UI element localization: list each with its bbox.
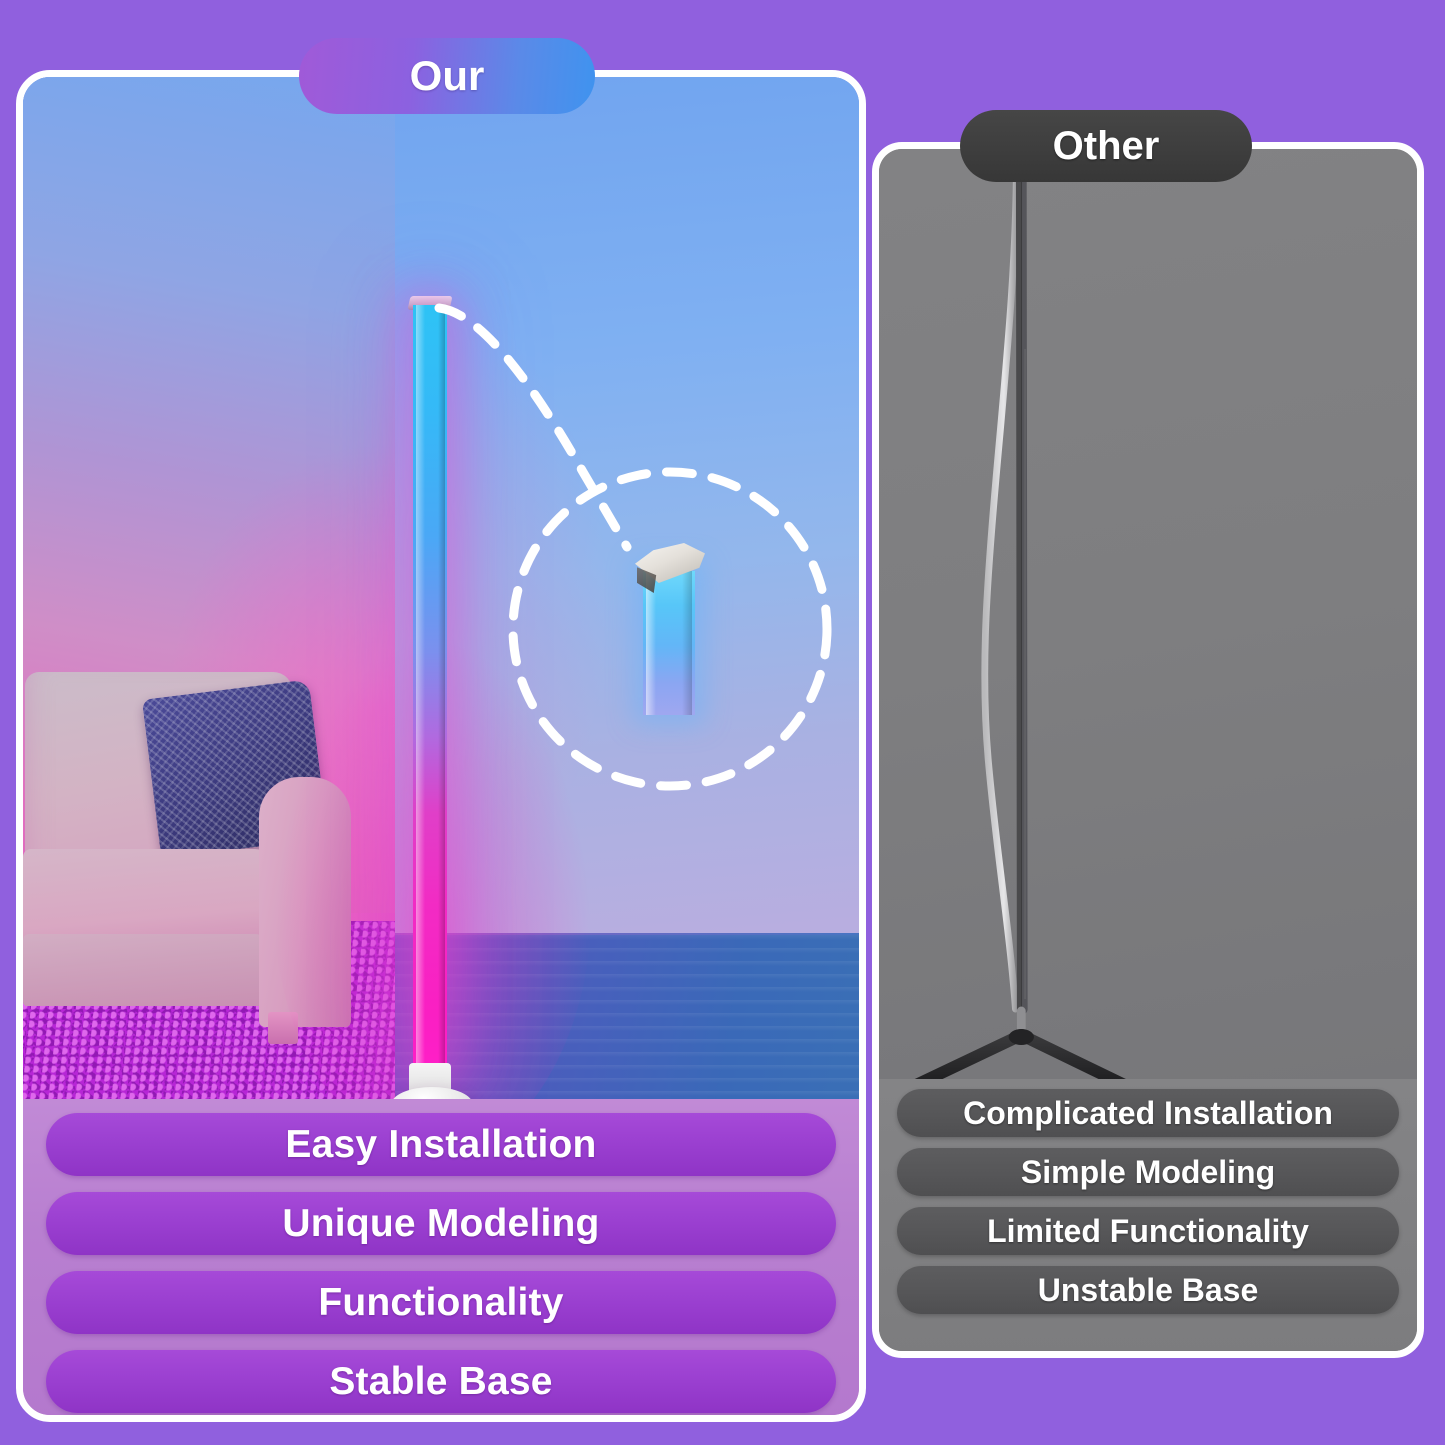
lamp-base-hub xyxy=(1009,1029,1034,1045)
other-feature-pill[interactable]: Unstable Base xyxy=(897,1266,1399,1314)
living-room-scene xyxy=(23,77,395,1099)
lamp-pole-dark xyxy=(1021,159,1022,1009)
lamp-base-leg-right xyxy=(1021,1035,1124,1079)
other-feature-pill[interactable]: Complicated Installation xyxy=(897,1089,1399,1137)
our-product-photo xyxy=(23,77,859,1099)
our-feature-pill[interactable]: Functionality xyxy=(46,1271,836,1334)
other-feature-list: Complicated Installation Simple Modeling… xyxy=(879,1079,1417,1358)
our-feature-pill[interactable]: Stable Base xyxy=(46,1350,836,1413)
other-product-photo xyxy=(879,149,1417,1079)
detail-lamp-body xyxy=(643,571,695,715)
other-feature-pill[interactable]: Limited Functionality xyxy=(897,1207,1399,1255)
sofa-base xyxy=(23,934,269,1006)
lamp-base-leg-left xyxy=(916,1035,1021,1079)
lamp-top-detail xyxy=(635,543,705,715)
other-feature-pill[interactable]: Simple Modeling xyxy=(897,1148,1399,1196)
our-badge: Our xyxy=(299,38,595,114)
other-badge: Other xyxy=(960,110,1252,182)
other-panel: Complicated Installation Simple Modeling… xyxy=(872,142,1424,1358)
comparison-infographic: Easy Installation Unique Modeling Functi… xyxy=(0,0,1445,1445)
sofa-foot xyxy=(268,1012,298,1044)
our-feature-list: Easy Installation Unique Modeling Functi… xyxy=(23,1099,859,1422)
lamp-pole-highlight xyxy=(985,159,1017,1009)
rgb-lamp-pole xyxy=(413,305,447,1075)
our-feature-pill[interactable]: Unique Modeling xyxy=(46,1192,836,1255)
competitor-lamp-illustration xyxy=(879,149,1417,1079)
our-panel: Easy Installation Unique Modeling Functi… xyxy=(16,70,866,1422)
our-feature-pill[interactable]: Easy Installation xyxy=(46,1113,836,1176)
sofa-armrest xyxy=(259,777,351,1027)
